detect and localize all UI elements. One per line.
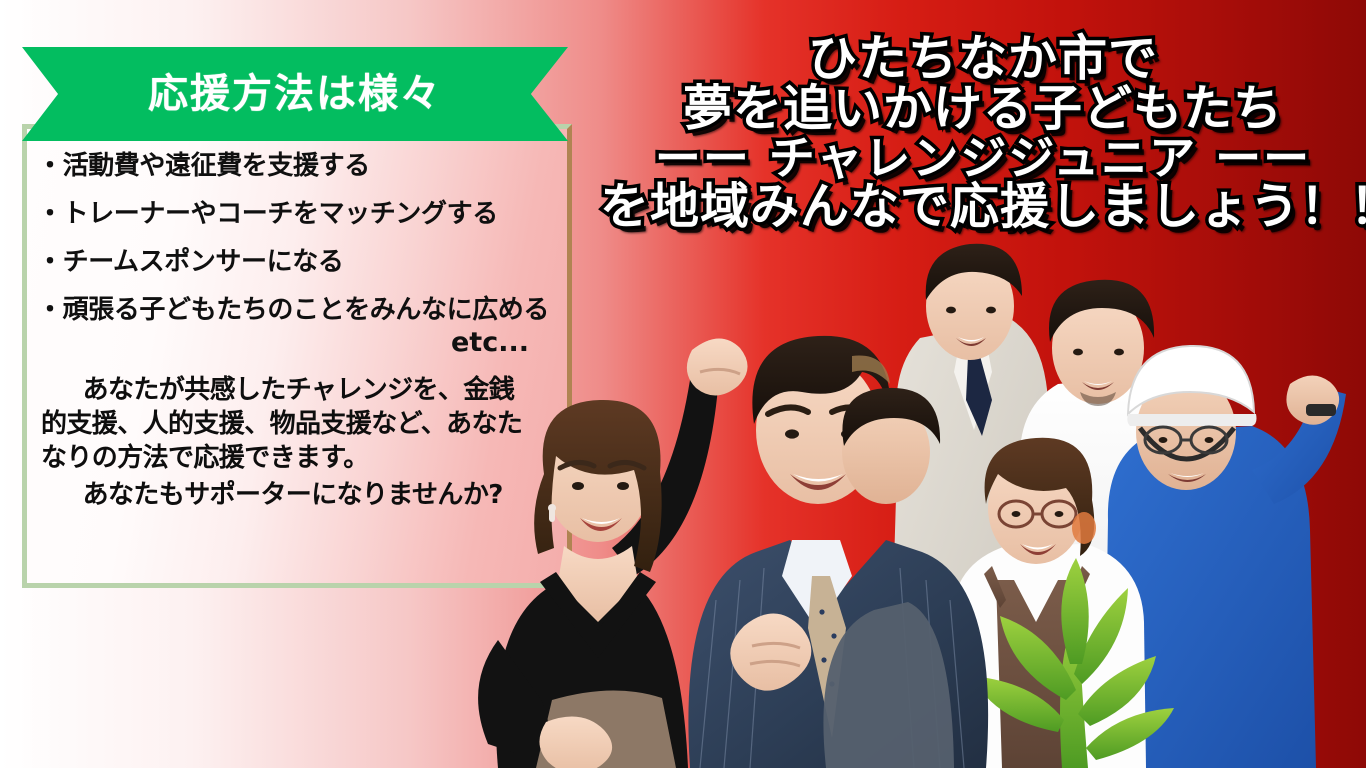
list-item: ・活動費や遠征費を支援する bbox=[37, 153, 557, 179]
description-line: なりの方法で応援できます。 bbox=[41, 442, 553, 476]
person-blue-coverall bbox=[1104, 346, 1346, 768]
person-chef-coat bbox=[1018, 280, 1186, 768]
person-apron-woman bbox=[952, 438, 1146, 768]
list-item: ・頑張る子どもたちのことをみんなに広める bbox=[37, 297, 557, 323]
banner-stage: 応援方法は様々 ・活動費や遠征費を支援する ・トレーナーやコーチをマッチングする… bbox=[0, 0, 1366, 768]
support-methods-panel: ・活動費や遠征費を支援する ・トレーナーやコーチをマッチングする ・チームスポン… bbox=[22, 124, 572, 588]
list-item: ・チームスポンサーになる bbox=[37, 249, 557, 275]
description-line: 的支援、人的支援、物品支援など、あなた bbox=[41, 408, 553, 442]
person-navy-suit bbox=[688, 336, 988, 768]
headline-line-1: ひたちなか市で bbox=[600, 34, 1366, 84]
description-line: あなたが共感したチャレンジを、金銭 bbox=[41, 374, 553, 408]
etcetera-label: etc... bbox=[37, 327, 557, 358]
main-headline: ひたちなか市で 夢を追いかける子どもたち ーー チャレンジジュニア ーー を地域… bbox=[600, 34, 1366, 233]
person-grey-jacket bbox=[888, 244, 1048, 768]
support-description: あなたが共感したチャレンジを、金銭 的支援、人的支援、物品支援など、あなた なり… bbox=[37, 374, 557, 513]
headline-line-3: ーー チャレンジジュニア ーー bbox=[600, 135, 1366, 182]
person-partial-left bbox=[823, 388, 954, 768]
headline-line-4: を地域みんなで応援しましょう！！ bbox=[600, 182, 1366, 232]
ribbon-title: 応援方法は様々 bbox=[148, 74, 442, 114]
list-item: ・トレーナーやコーチをマッチングする bbox=[37, 201, 557, 227]
section-ribbon: 応援方法は様々 bbox=[22, 47, 568, 141]
description-line: あなたもサポーターになりませんか? bbox=[41, 479, 553, 513]
foliage-plant bbox=[972, 558, 1174, 768]
headline-line-2: 夢を追いかける子どもたち bbox=[600, 84, 1366, 134]
support-methods-list: ・活動費や遠征費を支援する ・トレーナーやコーチをマッチングする ・チームスポン… bbox=[37, 153, 557, 323]
